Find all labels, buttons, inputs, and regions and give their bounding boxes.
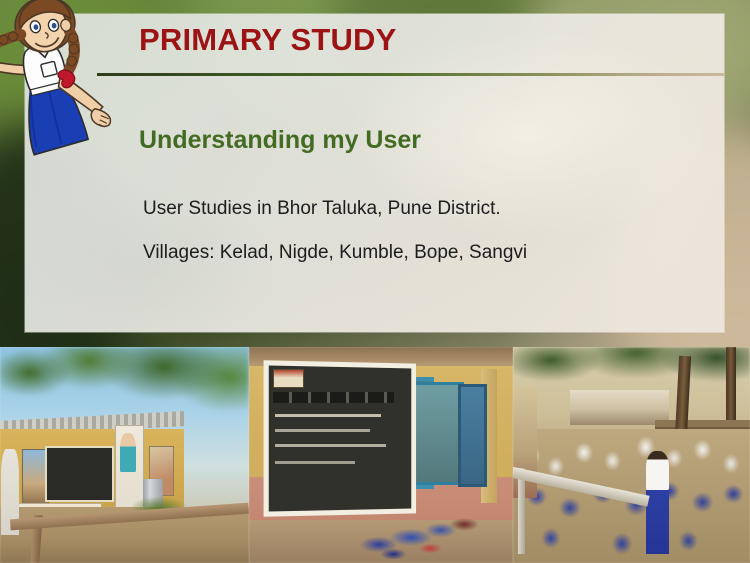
photo-classroom-veranda-blackboard [249, 347, 513, 563]
page-title: PRIMARY STUDY [139, 22, 397, 58]
presentation-slide: PRIMARY STUDY Understanding my User User… [0, 0, 750, 563]
body-line-2: Villages: Kelad, Nigde, Kumble, Bope, Sa… [143, 242, 527, 264]
section-subtitle: Understanding my User [139, 126, 421, 155]
photo-strip [0, 347, 750, 563]
photo-village-school-exterior [0, 347, 249, 563]
body-line-1: User Studies in Bhor Taluka, Pune Distri… [143, 198, 501, 220]
title-divider [97, 73, 725, 76]
photo-students-courtyard-assembly [513, 347, 750, 563]
content-panel [25, 14, 724, 332]
cartoon-schoolgirl-icon [0, 0, 124, 156]
